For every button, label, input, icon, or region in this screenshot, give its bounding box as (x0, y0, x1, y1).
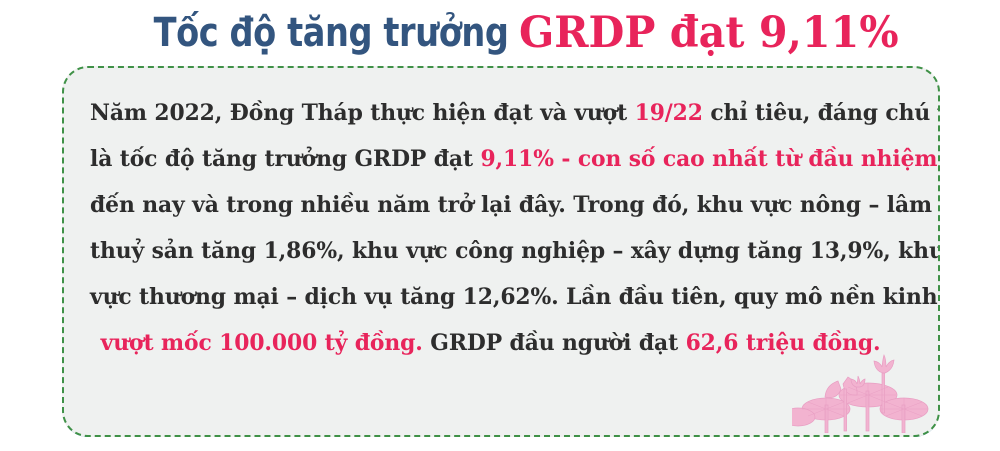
line-6: vượt mốc 100.000 tỷ đồng. GRDP đầu người… (90, 320, 891, 366)
body-text: chỉ tiêu, đáng chú ý (703, 100, 940, 126)
body-text: đến nay và trong nhiều năm trở lại đây. … (90, 192, 940, 218)
line-4: thuỷ sản tăng 1,86%, khu vực công nghiệp… (90, 228, 891, 274)
highlight-text: 62,6 triệu đồng. (686, 330, 881, 356)
page-title: Tốc độ tăng trưởng GRDP đạt 9,11% (0, 4, 1000, 62)
highlight-text: vượt mốc 100.000 tỷ đồng. (101, 330, 423, 356)
body-text: vực thương mại – dịch vụ tăng 12,62%. Lầ… (90, 284, 940, 310)
highlight-text: 19/22 (635, 100, 703, 126)
page-title-highlight: GRDP đạt 9,11% (519, 12, 899, 55)
content-card: Năm 2022, Đồng Tháp thực hiện đạt và vượ… (62, 66, 940, 437)
highlight-text: 9,11% - con số cao nhất từ đầu nhiệm kỳ (480, 146, 940, 172)
body-text: là tốc độ tăng trưởng GRDP đạt (90, 146, 480, 172)
page-title-prefix: Tốc độ tăng trưởng (154, 13, 509, 53)
body-text: Năm 2022, Đồng Tháp thực hiện đạt và vượ… (90, 100, 635, 126)
line-1: Năm 2022, Đồng Tháp thực hiện đạt và vượ… (90, 90, 891, 136)
body-paragraph: Năm 2022, Đồng Tháp thực hiện đạt và vượ… (90, 90, 891, 366)
line-5: vực thương mại – dịch vụ tăng 12,62%. Lầ… (90, 274, 891, 320)
body-text: thuỷ sản tăng 1,86%, khu vực công nghiệp… (90, 238, 940, 264)
line-3: đến nay và trong nhiều năm trở lại đây. … (90, 182, 891, 228)
body-text: GRDP đầu người đạt (423, 330, 686, 356)
line-2: là tốc độ tăng trưởng GRDP đạt 9,11% - c… (90, 136, 891, 182)
